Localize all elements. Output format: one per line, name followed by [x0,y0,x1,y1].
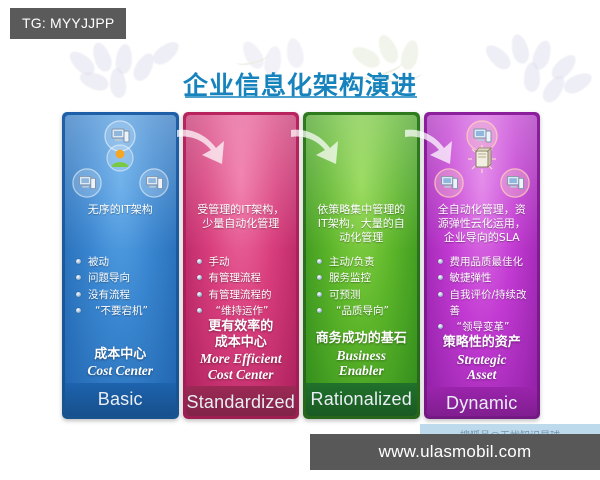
stage-label-rationalized: Rationalized [306,383,417,416]
tg-badge: TG: MYYJJPP [10,8,126,39]
stage-label-standardized: Standardized [186,386,297,416]
bullet-item: 自我评价/持续改善 [437,287,532,320]
column-summary: 商务成功的基石 Business Enabler [306,331,417,383]
summary-cn: 成本中心 [69,347,172,363]
bullet-item: “品质导向” [316,303,411,319]
bullet-item: 有管理流程 [196,270,291,286]
column-headline: 全自动化管理，资源弹性云化运用，企业导向的SLA [427,203,538,247]
summary-en: Cost Center [69,363,172,379]
column-headline: 受管理的IT架构，少量自动化管理 [186,203,297,247]
stage-label-basic: Basic [65,383,176,416]
bullet-item: 手动 [196,254,291,270]
column-rationalized[interactable]: 依策略集中管理的IT架构，大量的自动化管理 主动/负责 服务监控 可预测 “品质… [303,112,420,419]
bullet-item: 没有流程 [75,287,170,303]
summary-cn: 商务成功的基石 [310,331,413,347]
bullet-item: 有管理流程的 [196,287,291,303]
icon-cluster-standardized [186,119,297,199]
summary-en: Strategic Asset [431,352,534,383]
column-bullets: 主动/负责 服务监控 可预测 “品质导向” [306,254,417,331]
stage-label-dynamic: Dynamic [427,387,538,416]
bullet-item: “维持运作” [196,303,291,319]
bullet-item: “不要宕机” [75,303,170,319]
bullet-item: 服务监控 [316,270,411,286]
bullet-item: 费用品质最佳化 [437,254,532,270]
maturity-columns: 无序的IT架构 被动 问题导向 没有流程 “不要宕机” 成本中心 Cost Ce… [62,112,540,419]
bullet-item: “领导变革” [437,319,532,335]
column-summary: 策略性的资产 Strategic Asset [427,335,538,387]
bullet-item: 可预测 [316,287,411,303]
column-bullets: 手动 有管理流程 有管理流程的 “维持运作” [186,254,297,319]
column-bullets: 被动 问题导向 没有流程 “不要宕机” [65,254,176,347]
column-bullets: 费用品质最佳化 敏捷弹性 自我评价/持续改善 “领导变革” [427,254,538,335]
column-summary: 成本中心 Cost Center [65,347,176,383]
column-headline: 无序的IT架构 [65,203,176,247]
column-standardized[interactable]: 受管理的IT架构，少量自动化管理 手动 有管理流程 有管理流程的 “维持运作” … [183,112,300,419]
url-bar: www.ulasmobil.com [310,434,600,470]
summary-en: Business Enabler [310,348,413,379]
bullet-item: 问题导向 [75,270,170,286]
title-underline [185,96,417,98]
column-summary: 更有效率的 成本中心 More Efficient Cost Center [186,319,297,386]
slide-canvas: TG: MYYJJPP 企业信息化架构演进 [0,0,600,480]
column-basic[interactable]: 无序的IT架构 被动 问题导向 没有流程 “不要宕机” 成本中心 Cost Ce… [62,112,179,419]
summary-en: More Efficient Cost Center [190,351,293,382]
icon-cluster-basic [65,119,176,199]
bullet-item: 主动/负责 [316,254,411,270]
icon-cluster-rationalized [306,119,417,199]
bullet-item: 被动 [75,254,170,270]
summary-cn: 策略性的资产 [431,335,534,351]
summary-cn: 更有效率的 成本中心 [190,319,293,350]
column-headline: 依策略集中管理的IT架构，大量的自动化管理 [306,203,417,247]
bullet-item: 敏捷弹性 [437,270,532,286]
column-dynamic[interactable]: 全自动化管理，资源弹性云化运用，企业导向的SLA 费用品质最佳化 敏捷弹性 自我… [424,112,541,419]
icon-cluster-dynamic [427,119,538,199]
